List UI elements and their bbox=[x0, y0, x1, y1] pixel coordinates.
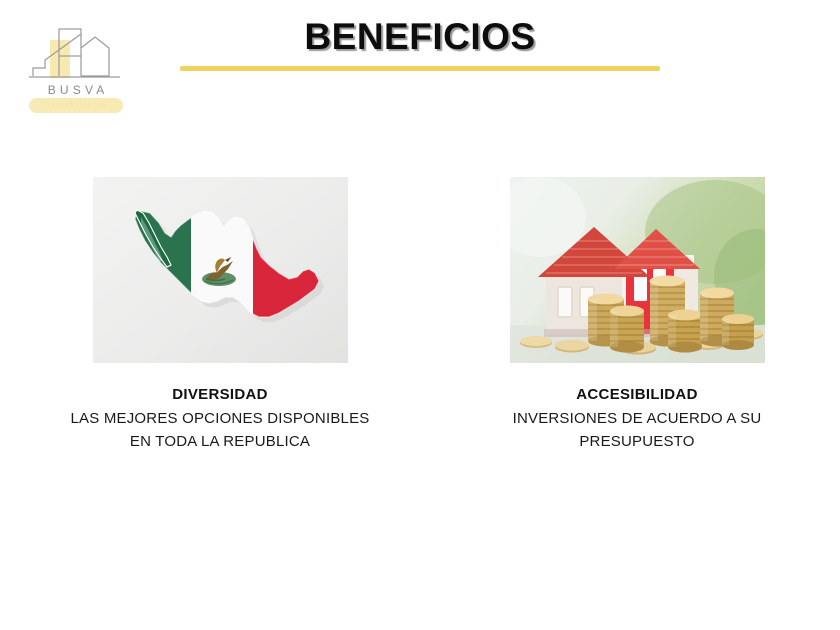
house-with-coin-stacks-image bbox=[510, 177, 765, 363]
benefit-body-line: INVERSIONES DE ACUERDO A SU bbox=[452, 407, 822, 430]
benefit-column-accesibilidad: ACCESIBILIDAD INVERSIONES DE ACUERDO A S… bbox=[452, 177, 822, 453]
benefit-column-diversidad: DIVERSIDAD LAS MEJORES OPCIONES DISPONIB… bbox=[18, 177, 422, 453]
building-outline-icon bbox=[28, 26, 124, 84]
benefit-body-diversidad: LAS MEJORES OPCIONES DISPONIBLES EN TODA… bbox=[18, 407, 422, 453]
benefit-body-accesibilidad: INVERSIONES DE ACUERDO A SU PRESUPUESTO bbox=[452, 407, 822, 453]
benefit-heading-accesibilidad: ACCESIBILIDAD bbox=[452, 386, 822, 403]
title-underline-rule bbox=[180, 66, 660, 71]
page-title: BENEFICIOS bbox=[120, 16, 720, 58]
logo-wordmark: BUSVA bbox=[26, 83, 126, 97]
logo-subtitle: Inmobiliaria bbox=[26, 99, 126, 112]
benefit-body-line: EN TODA LA REPUBLICA bbox=[18, 430, 422, 453]
benefit-body-line: PRESUPUESTO bbox=[452, 430, 822, 453]
benefit-body-line: LAS MEJORES OPCIONES DISPONIBLES bbox=[18, 407, 422, 430]
brand-logo: BUSVA Inmobiliaria bbox=[26, 26, 126, 120]
mexico-flag-map-image bbox=[93, 177, 348, 363]
benefit-heading-diversidad: DIVERSIDAD bbox=[18, 386, 422, 403]
slide-canvas: BUSVA Inmobiliaria BENEFICIOS bbox=[0, 0, 840, 630]
